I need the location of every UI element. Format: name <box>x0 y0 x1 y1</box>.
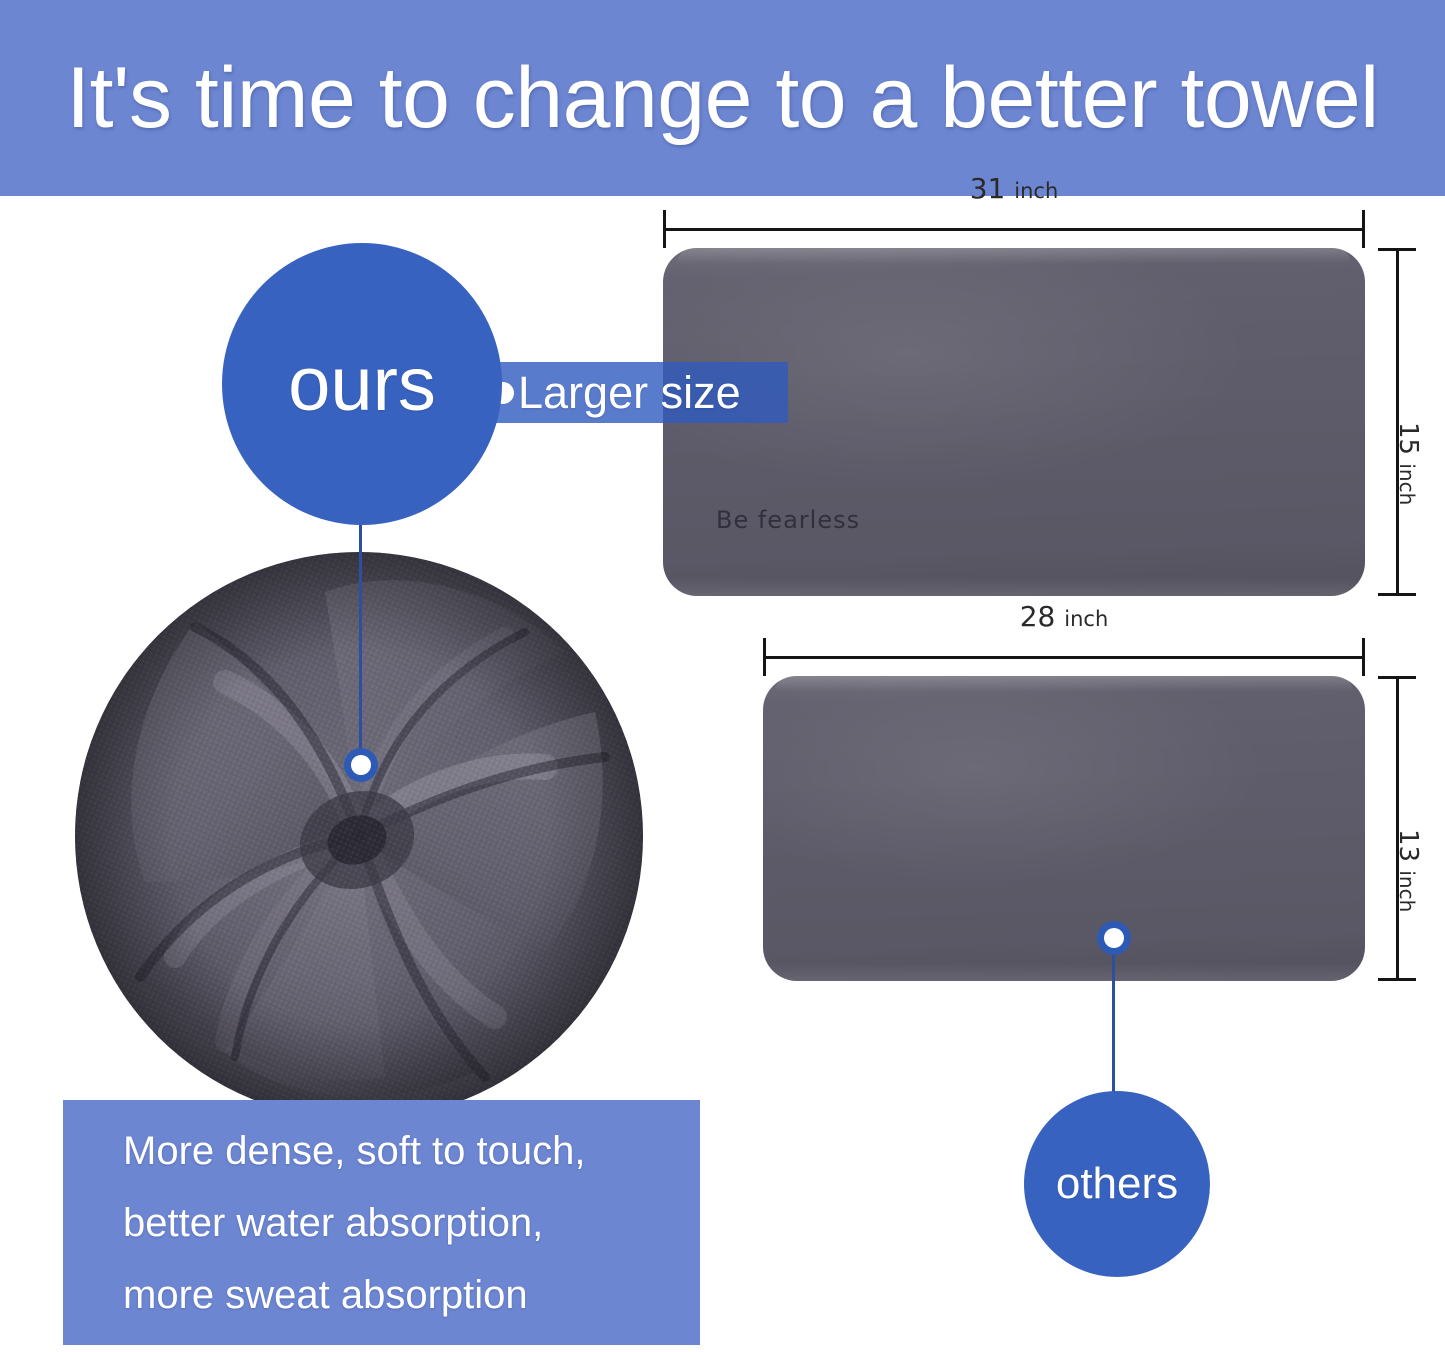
ours-label: ours <box>222 243 502 525</box>
feature-line: better water absorption, <box>123 1187 700 1259</box>
others-height-dimension: 13 inch <box>1378 676 1416 981</box>
leader-dot-icon <box>1097 921 1131 955</box>
ours-height-dimension: 15 inch <box>1378 248 1416 596</box>
dimension-cap-top <box>1378 248 1416 251</box>
ours-width-dimension: 31 inch <box>663 210 1365 248</box>
dimension-cap-bottom <box>1378 978 1416 981</box>
feature-text-lines: More dense, soft to touch, better water … <box>63 1100 700 1345</box>
others-callout-circle: others <box>1024 1091 1210 1277</box>
ours-height-label: 15 inch <box>1393 422 1423 505</box>
others-height-label: 13 inch <box>1393 829 1423 912</box>
dimension-cap-right <box>1362 210 1365 248</box>
dimension-cap-left <box>763 638 766 676</box>
others-leader-line <box>1112 952 1115 1100</box>
header-band: It's time to change to a better towel <box>0 0 1445 196</box>
dimension-bar <box>663 228 1365 231</box>
towel-edge-bottom <box>670 578 1358 596</box>
feature-text-box: More dense, soft to touch, better water … <box>63 1100 700 1345</box>
towel-embroidery-text: Be fearless <box>716 506 860 534</box>
others-width-dimension: 28 inch <box>763 638 1365 676</box>
feature-line: More dense, soft to touch, <box>123 1115 700 1187</box>
towel-edge-bottom <box>769 963 1359 981</box>
dimension-bar <box>763 656 1365 659</box>
ours-leader-line <box>359 520 362 762</box>
dimension-cap-left <box>663 210 666 248</box>
towel-sheen <box>763 676 1365 981</box>
ours-width-label: 31 inch <box>970 172 1059 205</box>
dimension-cap-bottom <box>1378 593 1416 596</box>
towel-edge-top <box>775 676 1353 692</box>
towel-edge-top <box>677 248 1351 264</box>
leader-dot-icon <box>344 748 378 782</box>
larger-size-label: Larger size <box>518 367 741 419</box>
product-infographic: It's time to change to a better towel 31… <box>0 0 1445 1352</box>
page-title: It's time to change to a better towel <box>0 0 1445 196</box>
larger-size-badge: Larger size <box>470 362 788 423</box>
others-towel-image <box>763 676 1365 981</box>
ours-callout-circle: ours <box>222 243 502 525</box>
dimension-cap-right <box>1362 638 1365 676</box>
dimension-cap-top <box>1378 676 1416 679</box>
others-label: others <box>1024 1091 1210 1277</box>
feature-line: more sweat absorption <box>123 1259 700 1331</box>
others-width-label: 28 inch <box>1020 600 1109 633</box>
